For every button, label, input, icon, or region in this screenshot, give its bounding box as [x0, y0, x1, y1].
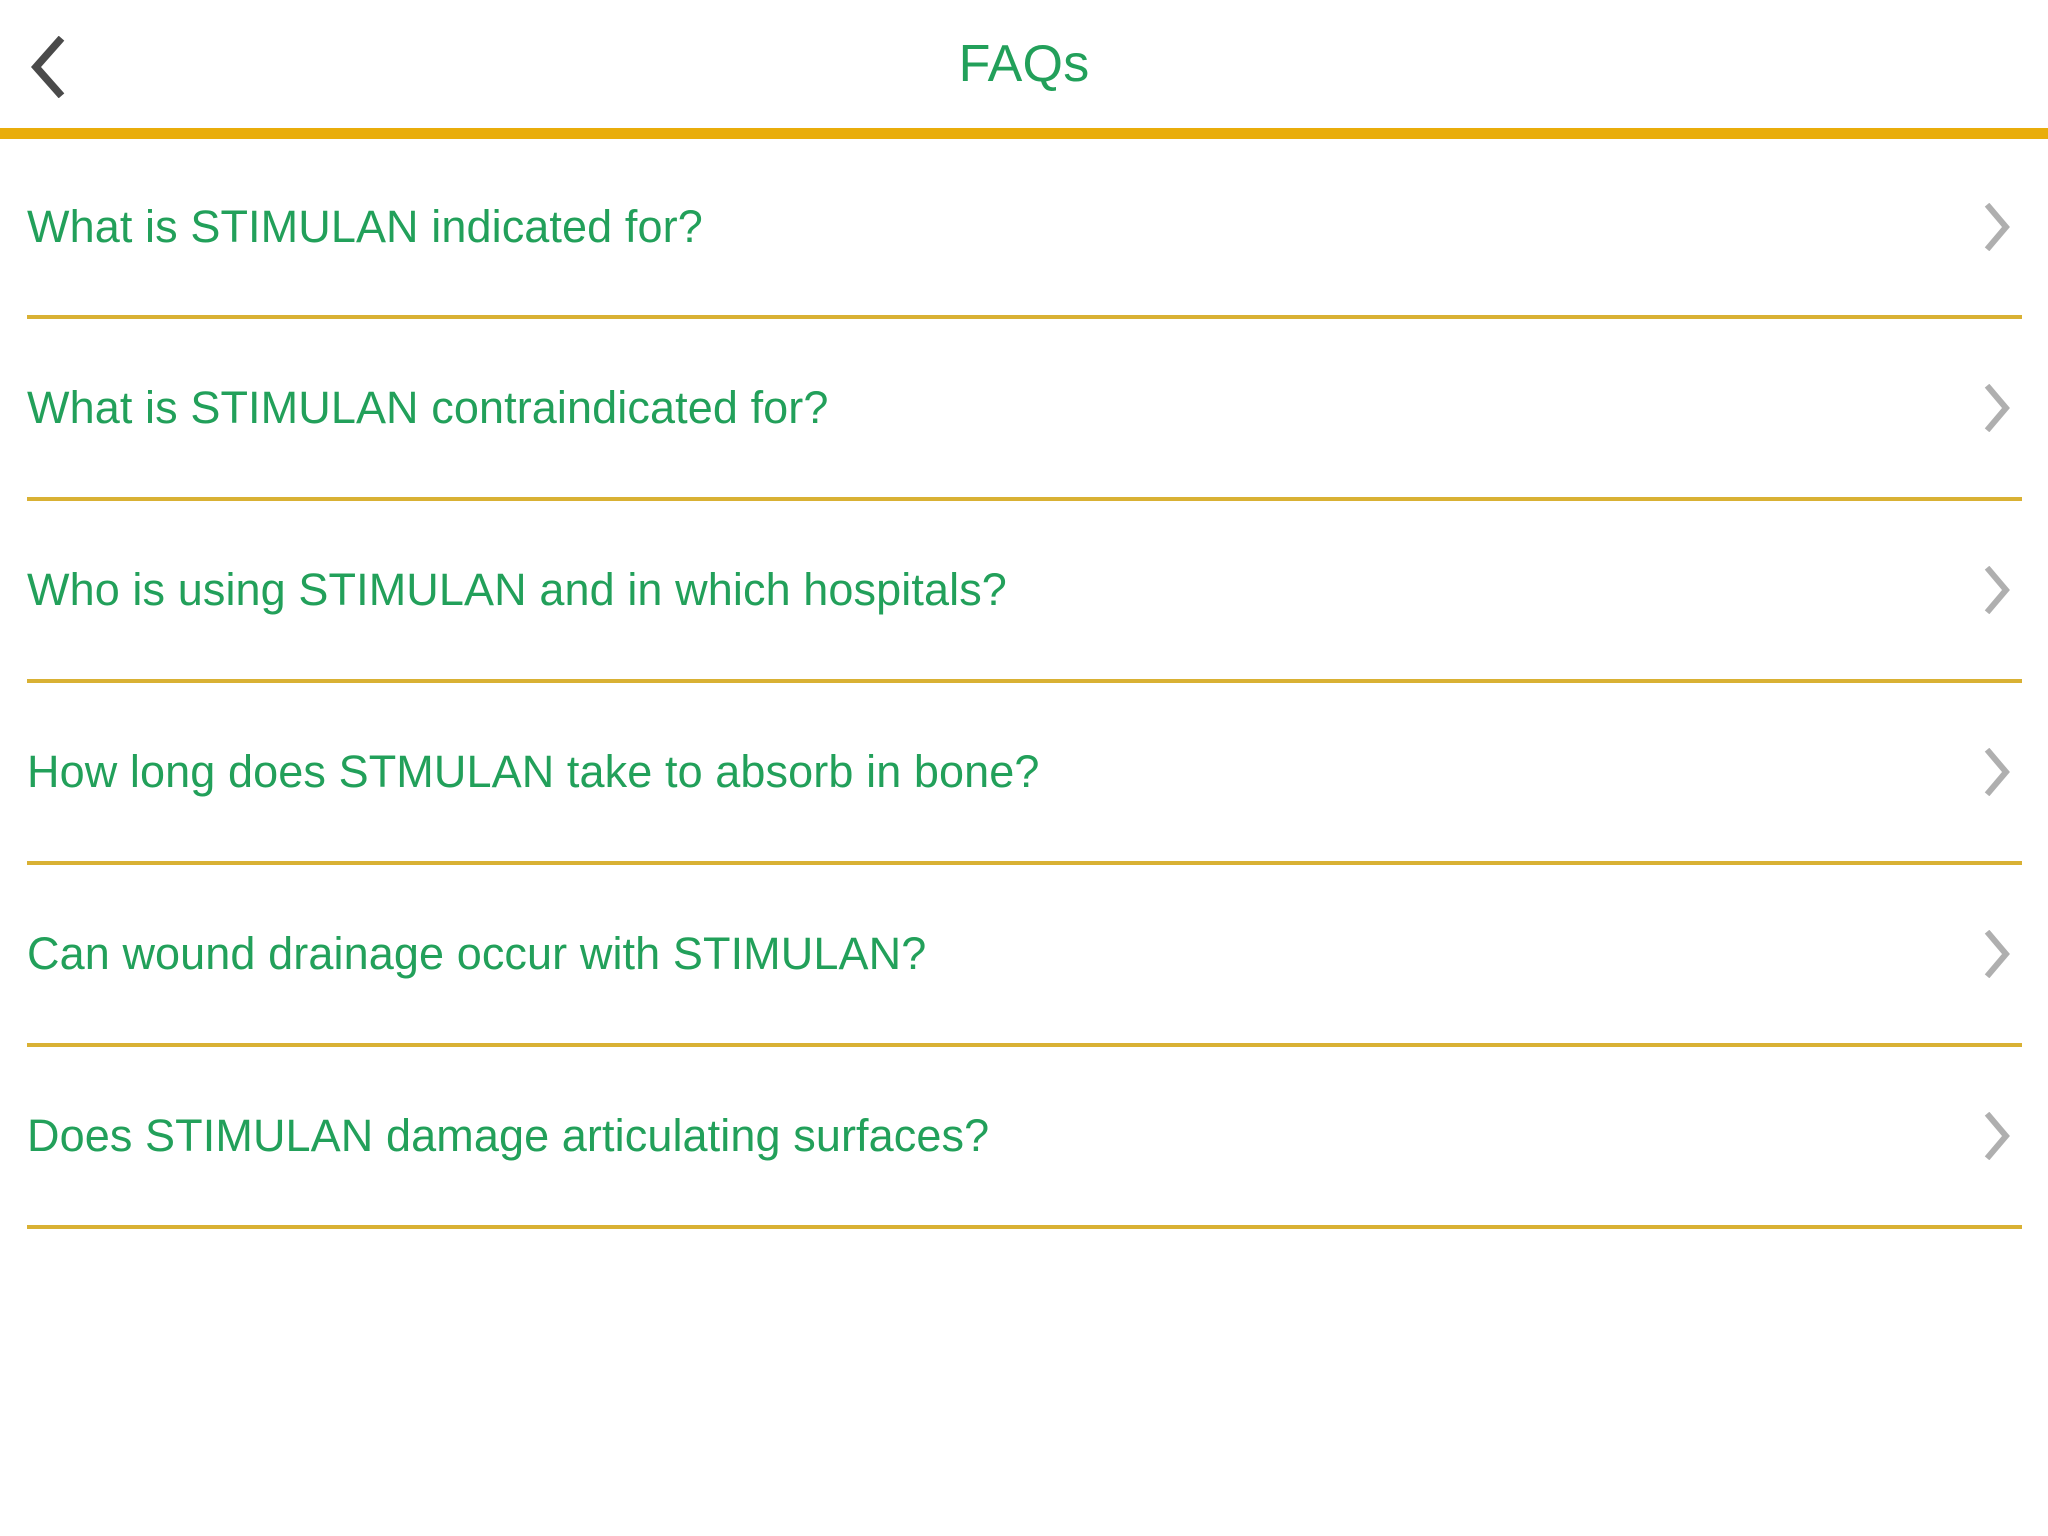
faq-item-label: Who is using STIMULAN and in which hospi… [27, 565, 1007, 615]
chevron-right-icon[interactable] [1972, 746, 2024, 798]
row-separator [27, 1225, 2022, 1229]
faq-item-5[interactable]: Does STIMULAN damage articulating surfac… [0, 1047, 2048, 1225]
faqs-screen: FAQs What is STIMULAN indicated for? Wha… [0, 0, 2048, 1536]
faq-item-label: Does STIMULAN damage articulating surfac… [27, 1111, 989, 1161]
faq-item-1[interactable]: What is STIMULAN contraindicated for? [0, 319, 2048, 497]
faq-item-3[interactable]: How long does STMULAN take to absorb in … [0, 683, 2048, 861]
app-header: FAQs [0, 0, 2048, 128]
chevron-right-icon[interactable] [1972, 201, 2024, 253]
faq-item-label: What is STIMULAN contraindicated for? [27, 383, 829, 433]
chevron-right-icon[interactable] [1972, 1110, 2024, 1162]
page-title: FAQs [0, 0, 2048, 128]
chevron-right-icon[interactable] [1972, 928, 2024, 980]
faq-item-label: Can wound drainage occur with STIMULAN? [27, 929, 926, 979]
faq-item-0[interactable]: What is STIMULAN indicated for? [0, 139, 2048, 315]
faq-item-4[interactable]: Can wound drainage occur with STIMULAN? [0, 865, 2048, 1043]
header-accent-rule [0, 128, 2048, 139]
chevron-right-icon[interactable] [1972, 564, 2024, 616]
faq-item-label: How long does STMULAN take to absorb in … [27, 747, 1040, 797]
faq-list: What is STIMULAN indicated for? What is … [0, 139, 2048, 1229]
faq-item-label: What is STIMULAN indicated for? [27, 202, 703, 252]
faq-item-2[interactable]: Who is using STIMULAN and in which hospi… [0, 501, 2048, 679]
chevron-right-icon[interactable] [1972, 382, 2024, 434]
